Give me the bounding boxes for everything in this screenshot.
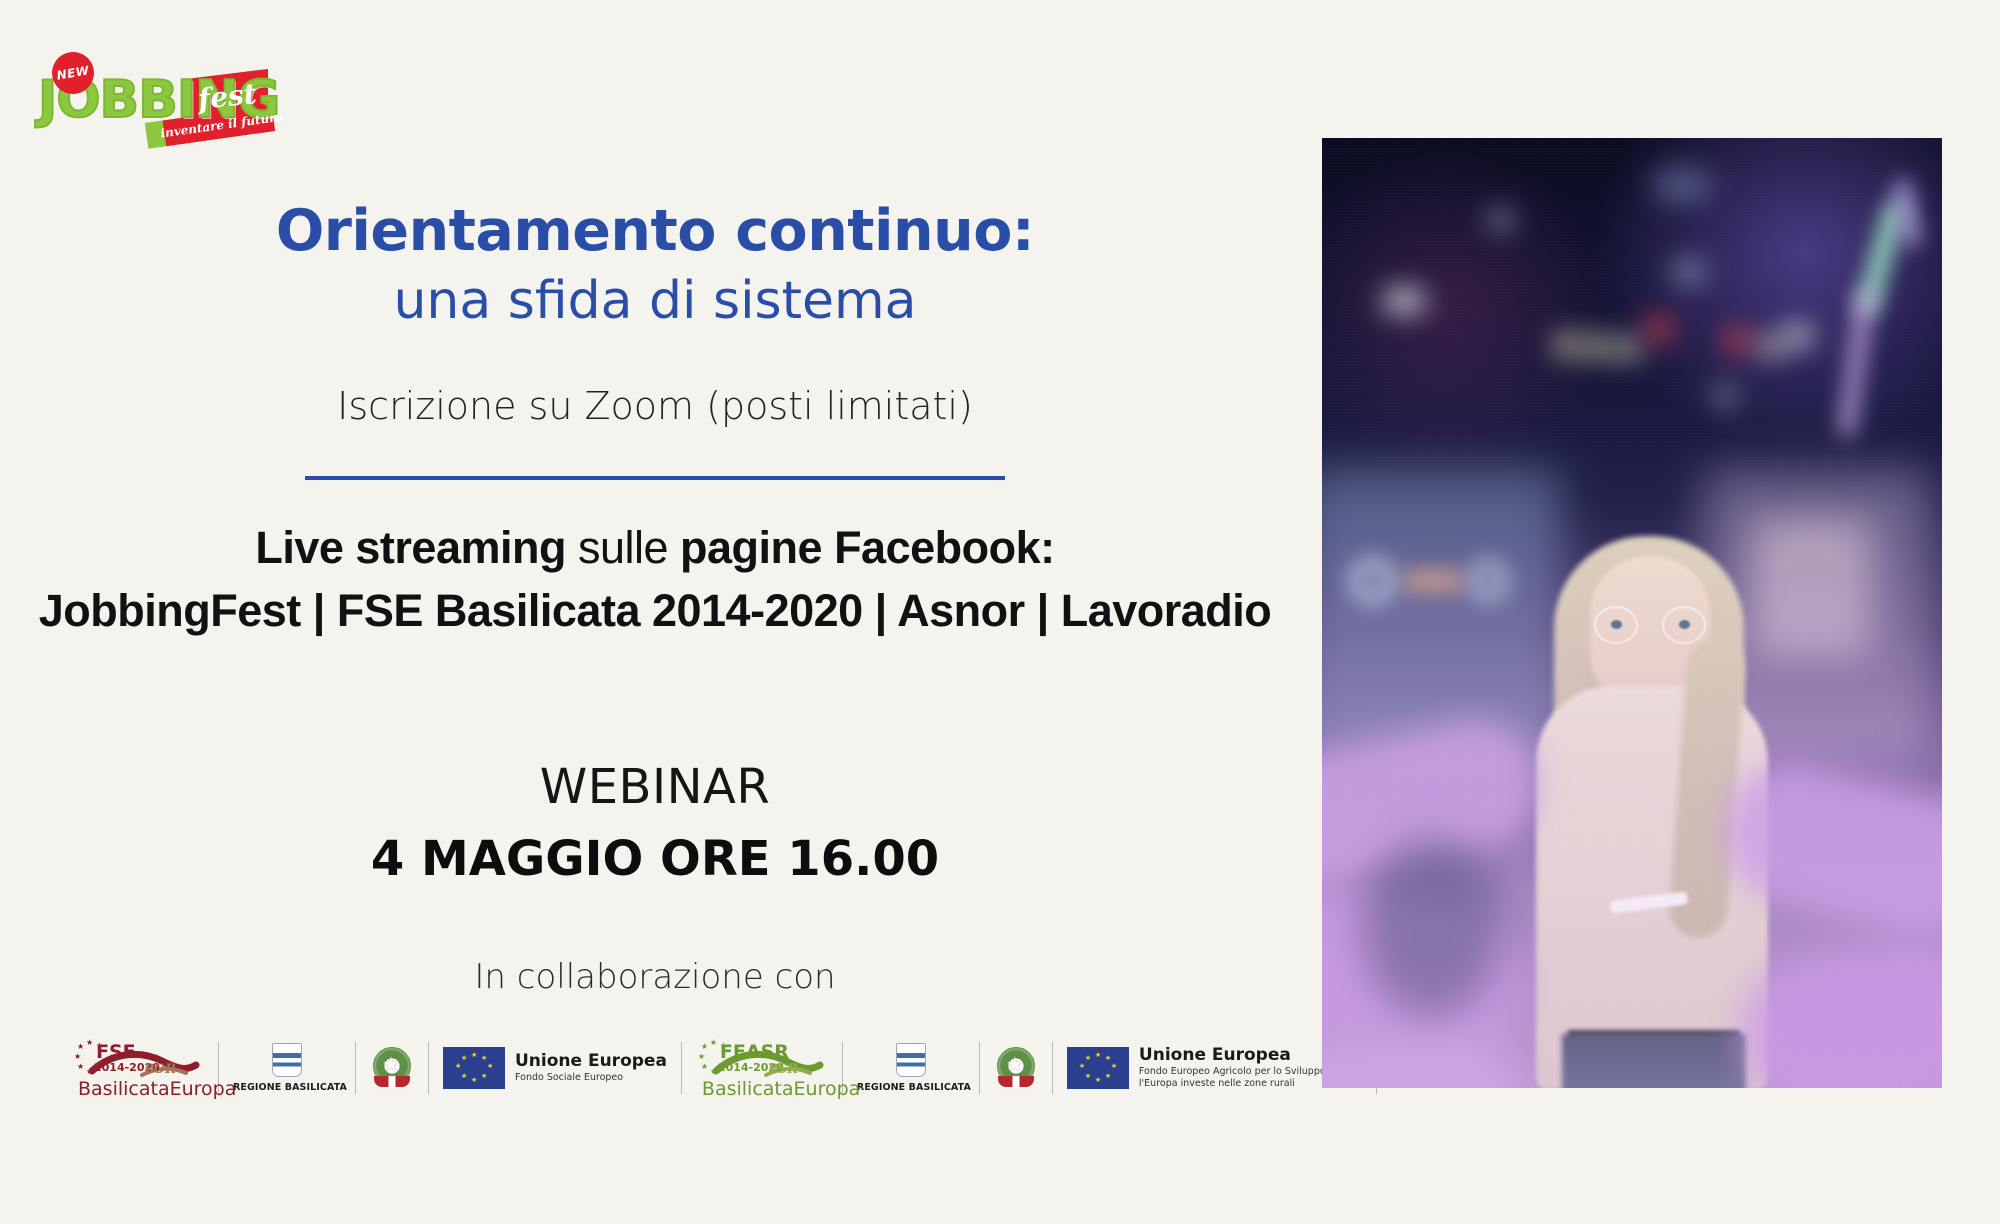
unione-europea-title: Unione Europea: [515, 1052, 667, 1071]
jobbingfest-logo: NEW JOBBING fest inventare il futuro: [38, 52, 288, 162]
logo-regione-basilicata-1: REGIONE BASILICATA: [219, 1032, 355, 1104]
logo-regione-basilicata-2: REGIONE BASILICATA: [843, 1032, 979, 1104]
photo-subject-jeans: [1562, 1034, 1746, 1088]
logo-repubblica-italiana-1: ★: [356, 1032, 428, 1104]
logo-repubblica-italiana-2: ★: [980, 1032, 1052, 1104]
main-content-column: Orientamento continuo: una sfida di sist…: [0, 200, 1310, 997]
partner-logo-strip: ★★ ★★ ★★ FSE 2014-2020 POR BasilicataEur…: [58, 1030, 1288, 1106]
eu-flag-icon: ★★ ★★ ★★ ★★: [443, 1047, 505, 1089]
feasr-basilicata-mark: ★★ ★★ ★★ FEASR 2014-2020 PSR BasilicataE…: [696, 1035, 828, 1101]
logo-fest-text: fest: [196, 77, 258, 116]
hero-photo: [1322, 138, 1942, 1088]
event-datetime: 4 MAGGIO ORE 16.00: [0, 831, 1310, 887]
streaming-headline: Live streaming sulle pagine Facebook:: [0, 520, 1310, 577]
fse-program: POR: [144, 1063, 176, 1076]
poster-canvas: NEW JOBBING fest inventare il futuro Ori…: [0, 0, 2000, 1224]
repubblica-italiana-emblem-icon: ★: [370, 1045, 414, 1091]
fse-acronym: FSE: [96, 1043, 136, 1062]
streaming-block: Live streaming sulle pagine Facebook: Jo…: [0, 520, 1310, 639]
logo-unione-europea-fse: ★★ ★★ ★★ ★★ Unione Europea Fondo Sociale…: [429, 1032, 681, 1104]
fse-program-name: BasilicataEuropa: [78, 1080, 236, 1099]
collaboration-label: In collaborazione con: [0, 957, 1310, 997]
regione-basilicata-label: REGIONE BASILICATA: [233, 1082, 341, 1093]
regione-basilicata-label: REGIONE BASILICATA: [857, 1082, 965, 1093]
basilicata-shield-icon: [272, 1043, 302, 1077]
logo-fse-basilicata-europa: ★★ ★★ ★★ FSE 2014-2020 POR BasilicataEur…: [58, 1032, 218, 1104]
regione-basilicata-mark: REGIONE BASILICATA: [857, 1043, 965, 1093]
eu-flag-icon: ★★ ★★ ★★ ★★: [1067, 1047, 1129, 1089]
page-subtitle: una sfida di sistema: [0, 270, 1310, 332]
streaming-bold-suffix: pagine Facebook: [680, 522, 1040, 573]
registration-note: Iscrizione su Zoom (posti limitati): [0, 384, 1310, 430]
unione-europea-subtitle: Fondo Sociale Europeo: [515, 1072, 667, 1084]
event-type-label: WEBINAR: [0, 759, 1310, 815]
page-title: Orientamento continuo:: [0, 200, 1310, 264]
regione-basilicata-mark: REGIONE BASILICATA: [233, 1043, 341, 1093]
feasr-program-name: BasilicataEuropa: [702, 1080, 860, 1099]
streaming-bold-prefix: Live streaming: [255, 522, 566, 573]
feasr-acronym: FEASR: [720, 1043, 789, 1062]
basilicata-shield-icon: [896, 1043, 926, 1077]
streaming-light-middle: sulle: [566, 522, 680, 573]
repubblica-italiana-emblem-icon: ★: [994, 1045, 1038, 1091]
logo-feasr-basilicata-europa: ★★ ★★ ★★ FEASR 2014-2020 PSR BasilicataE…: [682, 1032, 842, 1104]
feasr-program: PSR: [768, 1063, 798, 1076]
streaming-colon: :: [1040, 522, 1055, 573]
streaming-channels: JobbingFest | FSE Basilicata 2014-2020 |…: [0, 583, 1310, 640]
round-glasses-icon: [1594, 606, 1706, 644]
divider: [305, 476, 1005, 480]
fse-basilicata-mark: ★★ ★★ ★★ FSE 2014-2020 POR BasilicataEur…: [72, 1035, 204, 1101]
